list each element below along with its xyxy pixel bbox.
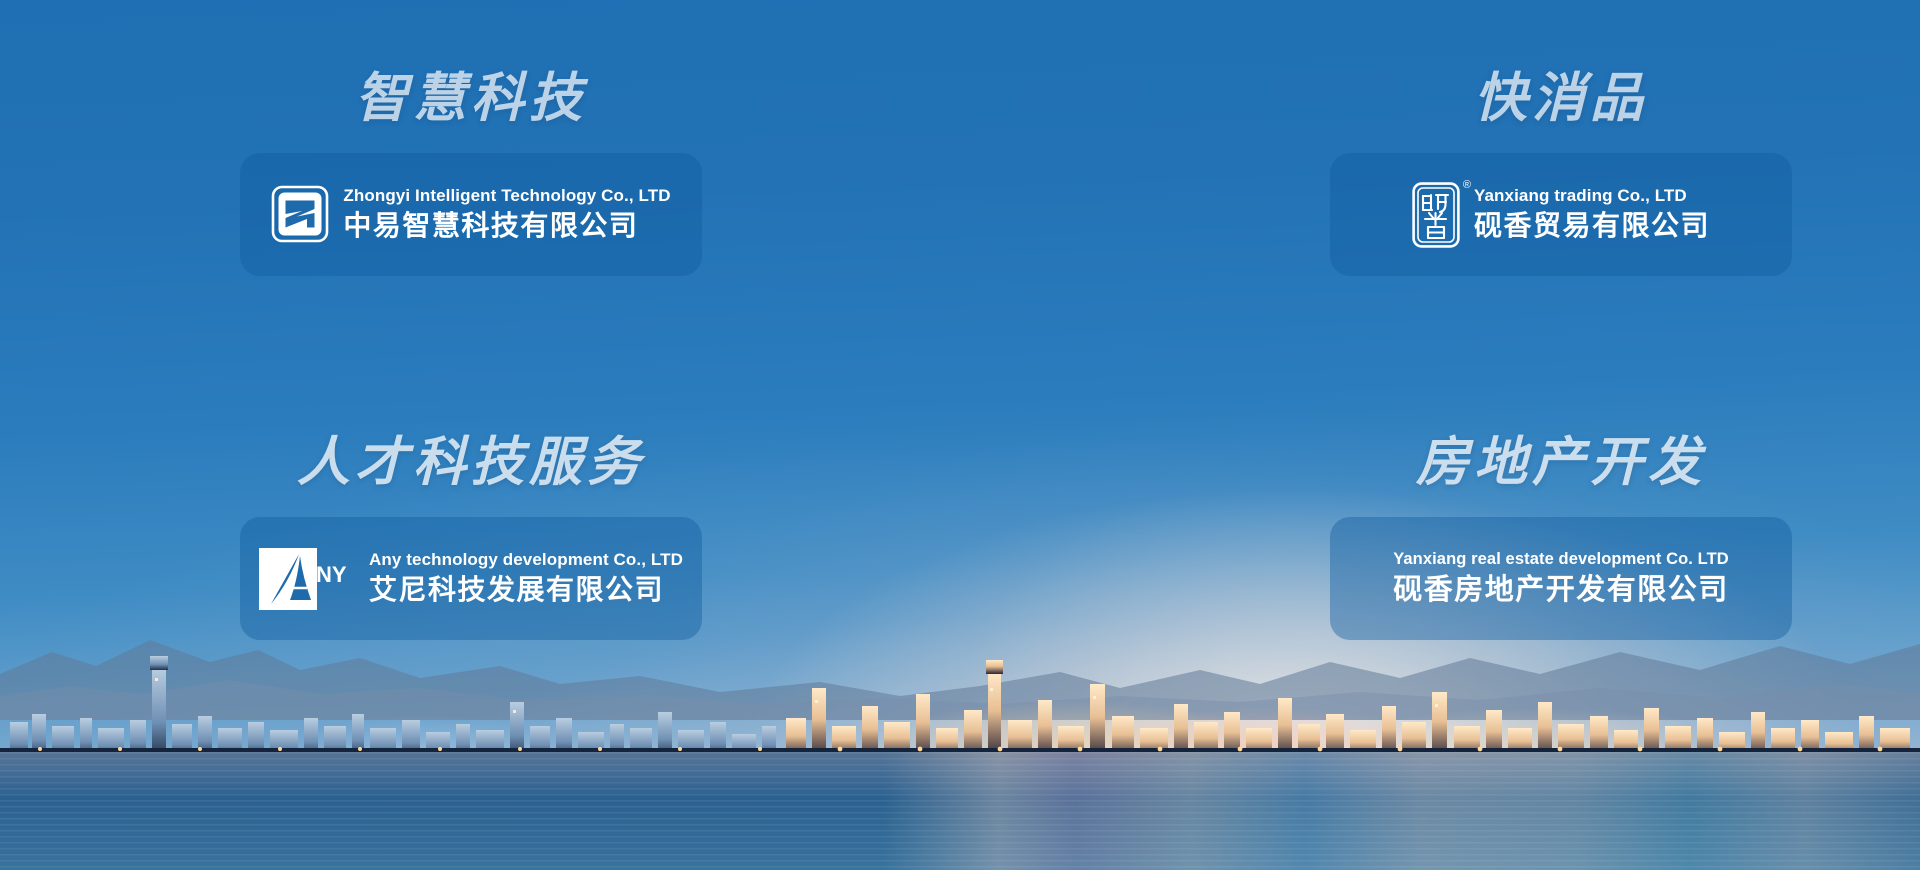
company-card-any[interactable]: NY Any technology development Co., LTD 艾… (240, 517, 702, 640)
company-name-en-zhongyi: Zhongyi Intelligent Technology Co., LTD (343, 185, 670, 208)
any-mountain-logo-icon: NY (259, 548, 355, 610)
segment-heading-talent-tech-services: 人才科技服务 (240, 436, 702, 489)
svg-text:NY: NY (316, 562, 347, 587)
registered-trademark-icon: ® (1463, 180, 1471, 191)
company-name-cn-zhongyi: 中易智慧科技有限公司 (343, 208, 670, 244)
segment-fmcg: 快消品 (702, 72, 1792, 436)
company-card-yanxiang-real-estate[interactable]: Yanxiang real estate development Co. LTD… (1330, 517, 1792, 640)
company-name-cn-yanxiang-real-estate: 砚香房地产开发有限公司 (1393, 572, 1729, 610)
segment-smart-technology: 智慧科技 Zhongyi Intelligent Technology Co.,… (240, 72, 702, 436)
company-name-en-yanxiang-real-estate: Yanxiang real estate development Co. LTD (1393, 548, 1729, 570)
hero-banner: 智慧科技 Zhongyi Intelligent Technology Co.,… (0, 0, 1920, 870)
company-name-cn-yanxiang-trading: 砚香贸易有限公司 (1474, 208, 1710, 244)
company-name-en-any: Any technology development Co., LTD (369, 549, 683, 572)
segment-real-estate: 房地产开发 Yanxiang real estate development C… (702, 436, 1792, 800)
segment-talent-tech-services: 人才科技服务 NY (240, 436, 702, 800)
segment-heading-fmcg: 快消品 (1330, 72, 1792, 125)
company-card-yanxiang-trading[interactable]: ® Yanxiang trading Co., LTD 砚香贸易有限公司 (1330, 153, 1792, 276)
zhongyi-z-logo-icon (271, 185, 329, 243)
yanxiang-seal-logo-icon: ® (1412, 182, 1460, 248)
company-name-en-yanxiang-trading: Yanxiang trading Co., LTD (1474, 185, 1710, 208)
segments-grid: 智慧科技 Zhongyi Intelligent Technology Co.,… (0, 0, 1920, 870)
segment-heading-smart-technology: 智慧科技 (240, 72, 702, 125)
company-card-zhongyi[interactable]: Zhongyi Intelligent Technology Co., LTD … (240, 153, 702, 276)
segment-heading-real-estate: 房地产开发 (1330, 436, 1792, 489)
company-name-cn-any: 艾尼科技发展有限公司 (369, 572, 683, 608)
